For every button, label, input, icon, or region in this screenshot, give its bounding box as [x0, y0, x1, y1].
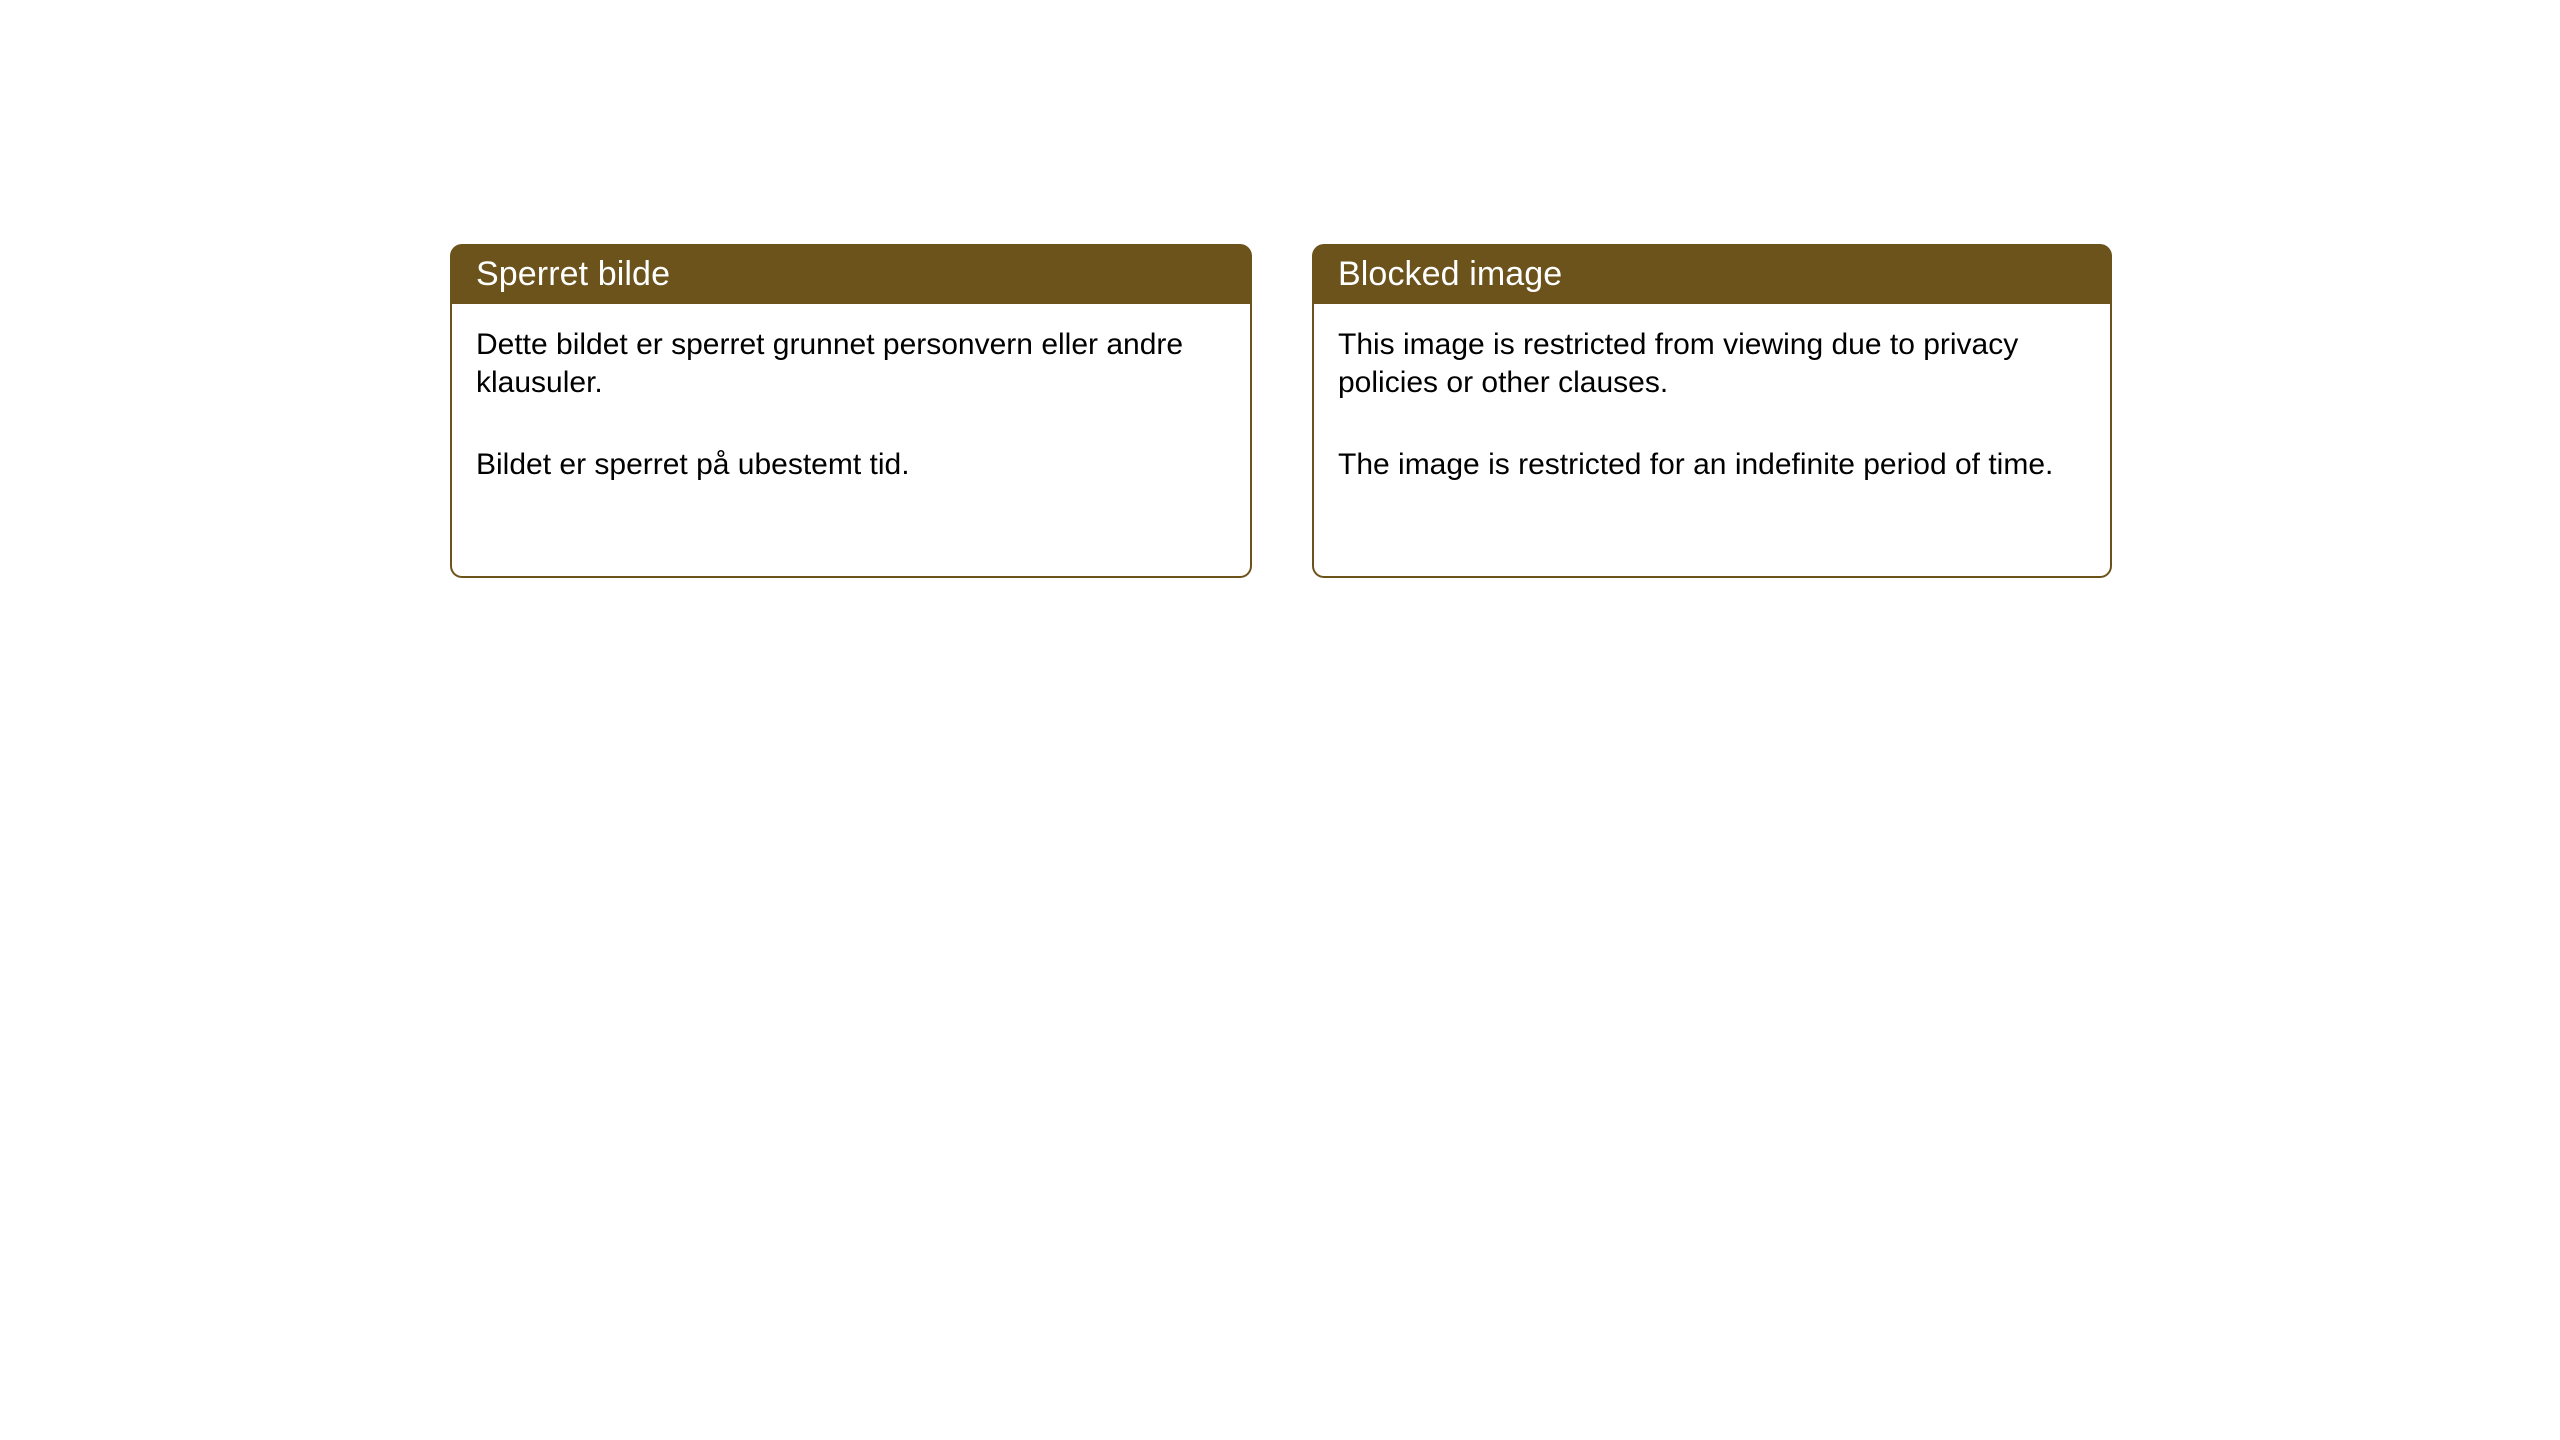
notice-paragraph-primary-no: Dette bildet er sperret grunnet personve…	[476, 326, 1224, 402]
notice-paragraph-secondary-en: The image is restricted for an indefinit…	[1338, 446, 2084, 484]
blocked-image-notice-en: Blocked image This image is restricted f…	[1312, 244, 2112, 578]
card-header-no: Sperret bilde	[450, 244, 1252, 304]
page-title-no: Sperret bilde	[476, 257, 670, 291]
card-header-en: Blocked image	[1312, 244, 2112, 304]
card-body-no: Dette bildet er sperret grunnet personve…	[450, 304, 1252, 578]
page-title-en: Blocked image	[1338, 257, 1562, 291]
blocked-image-notice-no: Sperret bilde Dette bildet er sperret gr…	[450, 244, 1252, 578]
notice-paragraph-secondary-no: Bildet er sperret på ubestemt tid.	[476, 446, 1224, 484]
card-body-en: This image is restricted from viewing du…	[1312, 304, 2112, 578]
page-canvas: Sperret bilde Dette bildet er sperret gr…	[0, 0, 2560, 1440]
notice-paragraph-primary-en: This image is restricted from viewing du…	[1338, 326, 2084, 402]
